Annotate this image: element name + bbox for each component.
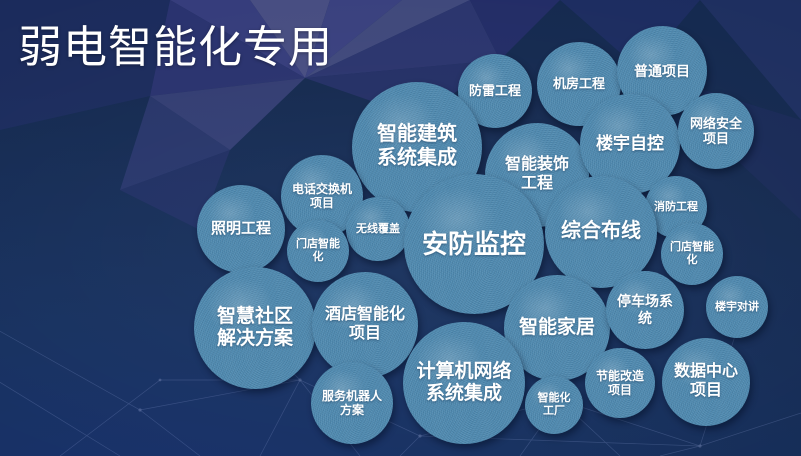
bubble-label: 门店智能化 — [292, 238, 343, 264]
bubble-label: 楼宇自控 — [590, 134, 670, 154]
bubble-label: 数据中心项目 — [669, 363, 744, 401]
bubble-item[interactable]: 智慧社区解决方案 — [194, 267, 316, 389]
bubble-item[interactable]: 门店智能化 — [287, 220, 349, 282]
bubble-label: 服务机器人方案 — [317, 389, 387, 417]
bubble-item[interactable]: 停车场系统 — [606, 271, 684, 349]
bubble-item[interactable]: 智能化工厂 — [525, 376, 583, 434]
page-title: 弱电智能化专用 — [18, 26, 333, 70]
bubble-label: 智慧社区解决方案 — [210, 306, 301, 351]
bubble-label: 楼宇对讲 — [711, 301, 762, 314]
bubble-item[interactable]: 酒店智能化项目 — [312, 272, 418, 378]
bubble-label: 电话交换机项目 — [287, 182, 357, 210]
bubble-label: 照明工程 — [206, 220, 277, 238]
bubble-label: 智能化工厂 — [534, 392, 574, 418]
bubble-label: 防雷工程 — [465, 83, 526, 98]
bubble-label: 计算机网络系统集成 — [409, 361, 519, 406]
bubble-label: 智能建筑系统集成 — [369, 123, 465, 170]
bubble-label: 酒店智能化项目 — [319, 306, 412, 344]
bubble-label: 门店智能化 — [666, 241, 717, 267]
bubble-label: 网络安全项目 — [685, 116, 746, 147]
bubble-item[interactable]: 网络安全项目 — [678, 93, 754, 169]
bubble-label: 安防监控 — [414, 229, 535, 260]
bubble-item[interactable]: 门店智能化 — [661, 223, 723, 285]
bubble-label: 智能家居 — [513, 317, 602, 339]
bubble-item[interactable]: 节能改造项目 — [585, 348, 655, 418]
bubble-label: 机房工程 — [548, 76, 610, 91]
bubble-label: 停车场系统 — [612, 293, 677, 326]
bubble-label: 综合布线 — [554, 220, 647, 244]
bubble-item[interactable]: 无线覆盖 — [346, 197, 410, 261]
bubble-label: 普通项目 — [629, 63, 696, 80]
bubble-item[interactable]: 服务机器人方案 — [311, 362, 393, 444]
bubble-label: 无线覆盖 — [352, 223, 404, 236]
bubble-label: 消防工程 — [650, 201, 701, 214]
bubble-item[interactable]: 数据中心项目 — [662, 338, 750, 426]
slide-canvas: 弱电智能化专用 防雷工程机房工程普通项目智能建筑系统集成智能装饰工程楼宇自控网络… — [0, 0, 801, 456]
bubble-item[interactable]: 楼宇对讲 — [706, 276, 768, 338]
bubble-item[interactable]: 照明工程 — [197, 185, 285, 273]
bubble-label: 节能改造项目 — [592, 369, 648, 397]
bubble-item[interactable]: 计算机网络系统集成 — [403, 322, 525, 444]
